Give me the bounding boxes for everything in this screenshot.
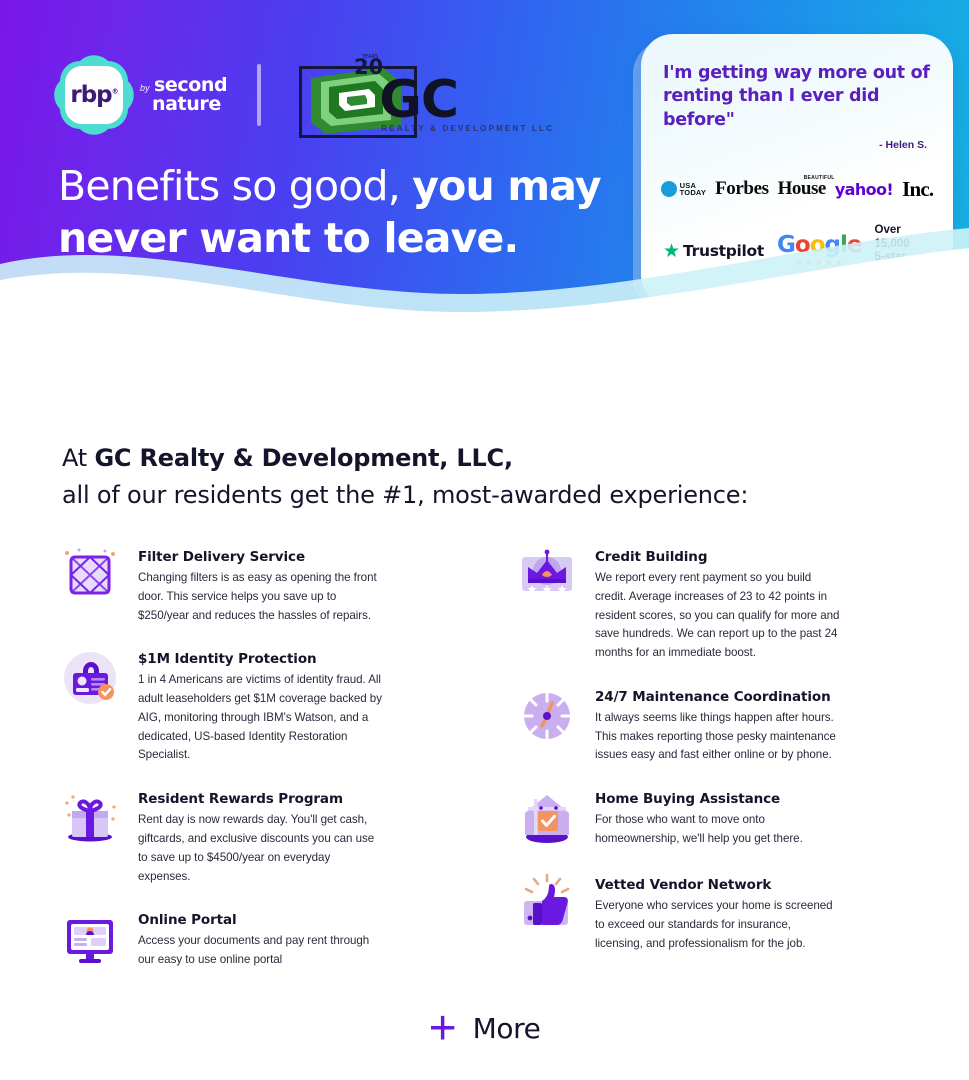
plus-icon: +: [429, 1012, 457, 1046]
by-label: by: [140, 83, 150, 93]
rbp-logo: rbp®: [58, 59, 130, 131]
section-heading-prefix: At: [62, 444, 94, 472]
press-logo-row: USA TODAY Forbes BEAUTIFUL House yahoo! …: [663, 177, 931, 202]
gift-icon: [59, 787, 121, 849]
benefit-description: Access your documents and pay rent throu…: [138, 932, 383, 970]
benefit-online-portal: Online Portal Access your documents and …: [58, 908, 458, 972]
section-heading-line2: all of our residents get the #1, most-aw…: [62, 481, 748, 509]
section-heading-company: GC Realty & Development, LLC,: [94, 444, 512, 472]
benefit-title: Online Portal: [138, 912, 383, 928]
identity-badge-icon: [59, 647, 121, 709]
identity-badge-icon-wrap: [58, 647, 122, 711]
usa-today-logo: USA TODAY: [661, 181, 706, 197]
house-check-icon-wrap: [515, 787, 579, 851]
second-nature-lockup: by second nature: [140, 76, 227, 115]
testimonial-attribution: - Helen S.: [663, 139, 931, 151]
benefit-title: Credit Building: [595, 549, 840, 565]
inc-logo: Inc.: [902, 177, 933, 202]
benefit-description: For those who want to move onto homeowne…: [595, 811, 840, 849]
benefit-text: Credit Building We report every rent pay…: [595, 545, 840, 663]
benefit-filter-delivery: Filter Delivery Service Changing filters…: [58, 545, 458, 625]
second-nature-line2: nature: [152, 95, 227, 114]
gc-subtitle: REALTY & DEVELOPMENT LLC: [381, 124, 554, 133]
benefit-identity-protection: $1M Identity Protection 1 in 4 Americans…: [58, 647, 458, 765]
benefit-description: It always seems like things happen after…: [595, 709, 840, 765]
yahoo-logo: yahoo!: [835, 180, 893, 199]
usa-today-wordmark: USA TODAY: [680, 182, 706, 197]
benefit-title: Home Buying Assistance: [595, 791, 840, 807]
benefit-text: Filter Delivery Service Changing filters…: [138, 545, 383, 625]
gc-realty-logo: 20 YEARS GC REALTY & DEVELOPMENT LLC: [297, 52, 532, 138]
rbp-trademark: ®: [112, 87, 118, 95]
svg-text:YEARS: YEARS: [361, 54, 378, 60]
house-check-icon: [516, 787, 578, 849]
benefit-description: Everyone who services your home is scree…: [595, 897, 840, 953]
logo-row: rbp® by second nature 20 YEARS GC REALT: [58, 52, 532, 138]
section-heading: At GC Realty & Development, LLC, all of …: [62, 440, 762, 514]
benefit-text: 24/7 Maintenance Coordination It always …: [595, 685, 840, 765]
benefit-resident-rewards: Resident Rewards Program Rent day is now…: [58, 787, 458, 886]
rbp-badge-card: rbp®: [65, 66, 123, 124]
benefit-title: 24/7 Maintenance Coordination: [595, 689, 840, 705]
hero-headline-bold: you may: [412, 162, 601, 210]
hero-headline-part1: Benefits so good,: [58, 162, 412, 210]
monitor-icon-wrap: [58, 908, 122, 972]
benefit-maintenance-coordination: 24/7 Maintenance Coordination It always …: [515, 685, 915, 765]
crown-stars-icon: [516, 545, 578, 607]
benefit-vetted-vendors: Vetted Vendor Network Everyone who servi…: [515, 873, 915, 953]
benefit-description: 1 in 4 Americans are victims of identity…: [138, 671, 383, 765]
house-beautiful-logo: BEAUTIFUL House: [778, 178, 826, 200]
rbp-wordmark: rbp®: [70, 82, 117, 108]
house-beautiful-wordmark: House: [778, 178, 826, 199]
filter-icon: [59, 545, 121, 607]
benefit-text: Resident Rewards Program Rent day is now…: [138, 787, 383, 886]
benefit-title: Filter Delivery Service: [138, 549, 383, 565]
benefits-column-right: Credit Building We report every rent pay…: [515, 545, 915, 976]
benefit-text: Home Buying Assistance For those who wan…: [595, 787, 840, 851]
testimonial-quote: I'm getting way more out of renting than…: [663, 62, 931, 132]
usa-today-dot-icon: [661, 181, 677, 197]
usa-today-line2: TODAY: [680, 189, 706, 197]
benefits-column-left: Filter Delivery Service Changing filters…: [58, 545, 458, 994]
crown-stars-icon-wrap: [515, 545, 579, 609]
thumbs-up-icon-wrap: [515, 873, 579, 937]
monitor-icon: [59, 908, 121, 970]
benefit-home-buying: Home Buying Assistance For those who wan…: [515, 787, 915, 851]
gift-icon-wrap: [58, 787, 122, 851]
hero-banner: rbp® by second nature 20 YEARS GC REALT: [0, 0, 969, 352]
thumbs-up-icon: [516, 873, 578, 935]
house-beautiful-sup: BEAUTIFUL: [804, 175, 835, 181]
filter-icon-wrap: [58, 545, 122, 609]
benefit-title: $1M Identity Protection: [138, 651, 383, 667]
benefit-title: Vetted Vendor Network: [595, 877, 840, 893]
benefit-title: Resident Rewards Program: [138, 791, 383, 807]
benefit-credit-building: Credit Building We report every rent pay…: [515, 545, 915, 663]
clock-icon: [516, 685, 578, 747]
benefit-description: Rent day is now rewards day. You'll get …: [138, 811, 383, 886]
benefit-description: We report every rent payment so you buil…: [595, 569, 840, 663]
forbes-logo: Forbes: [715, 178, 769, 200]
clock-icon-wrap: [515, 685, 579, 749]
gc-letters: GC: [379, 70, 458, 130]
more-label: More: [473, 1012, 541, 1045]
more-row[interactable]: + More: [0, 1012, 969, 1046]
logo-divider: [257, 64, 261, 126]
benefit-text: Online Portal Access your documents and …: [138, 908, 383, 972]
hero-wave-divider: [0, 222, 969, 352]
benefit-text: $1M Identity Protection 1 in 4 Americans…: [138, 647, 383, 765]
benefit-text: Vetted Vendor Network Everyone who servi…: [595, 873, 840, 953]
benefit-description: Changing filters is as easy as opening t…: [138, 569, 383, 625]
